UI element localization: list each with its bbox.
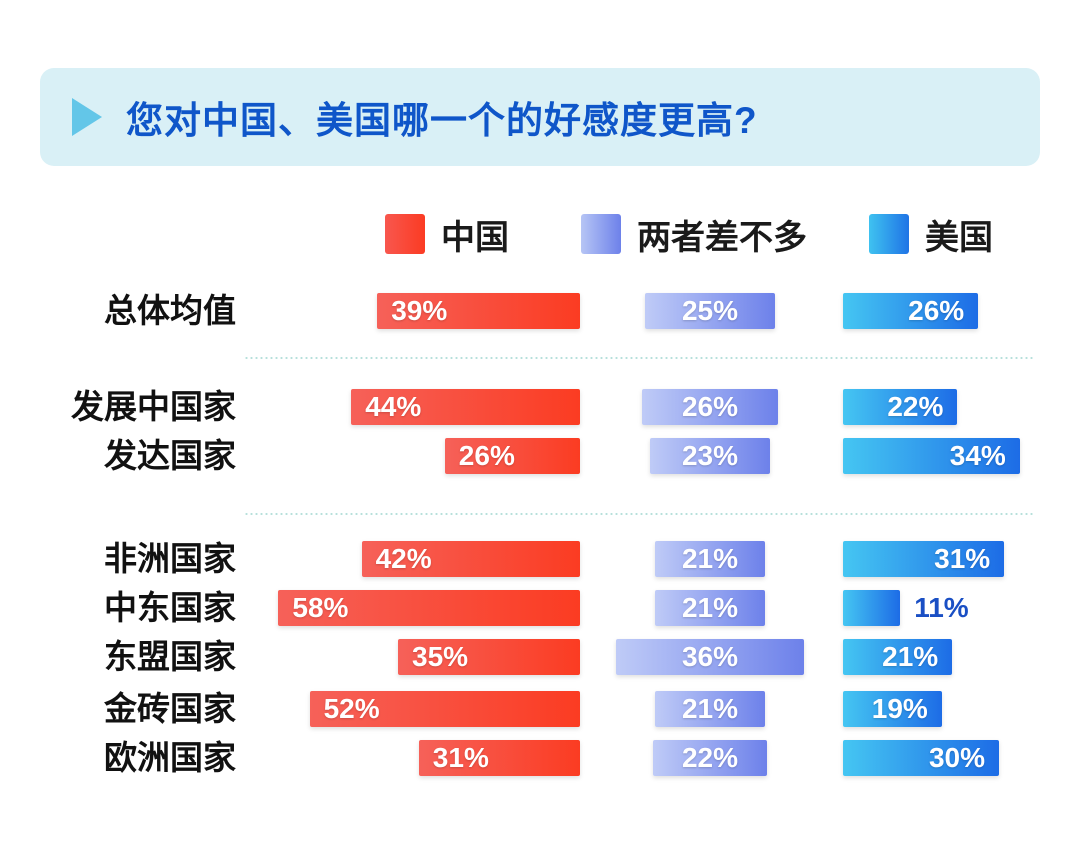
chart-row: 发展中国家44%26%22% xyxy=(0,385,1080,429)
bar-value-usa: 21% xyxy=(882,639,938,675)
bar-usa[interactable]: 21% xyxy=(843,639,952,675)
row-label-4: 中东国家 xyxy=(0,586,236,630)
bar-china[interactable]: 52% xyxy=(310,691,580,727)
bar-value-usa: 30% xyxy=(929,740,985,776)
bar-usa[interactable]: 19% xyxy=(843,691,942,727)
bar-value-about-same: 21% xyxy=(655,590,764,626)
bar-value-about-same: 22% xyxy=(653,740,767,776)
chart-row: 中东国家58%21%11% xyxy=(0,586,1080,630)
row-label-1: 发展中国家 xyxy=(0,385,236,429)
row-label-0: 总体均值 xyxy=(0,289,236,333)
bar-value-china: 39% xyxy=(391,293,447,329)
bar-value-about-same: 26% xyxy=(642,389,777,425)
bar-china[interactable]: 42% xyxy=(362,541,580,577)
bar-about-same[interactable]: 21% xyxy=(655,541,764,577)
bar-usa[interactable]: 34% xyxy=(843,438,1020,474)
bar-value-china: 52% xyxy=(324,691,380,727)
bar-value-china: 58% xyxy=(292,590,348,626)
chart-row: 总体均值39%25%26% xyxy=(0,289,1080,333)
row-label-6: 金砖国家 xyxy=(0,687,236,731)
bar-about-same[interactable]: 25% xyxy=(645,293,775,329)
row-label-2: 发达国家 xyxy=(0,434,236,478)
bar-china[interactable]: 26% xyxy=(445,438,580,474)
chart-row: 欧洲国家31%22%30% xyxy=(0,736,1080,780)
bar-value-china: 42% xyxy=(376,541,432,577)
bar-value-usa: 11% xyxy=(914,590,969,626)
bar-value-china: 26% xyxy=(459,438,515,474)
bar-about-same[interactable]: 21% xyxy=(655,590,764,626)
bar-value-china: 31% xyxy=(433,740,489,776)
bar-value-about-same: 25% xyxy=(645,293,775,329)
chart-row: 发达国家26%23%34% xyxy=(0,434,1080,478)
bar-value-about-same: 23% xyxy=(650,438,770,474)
bar-value-usa: 19% xyxy=(872,691,928,727)
bar-about-same[interactable]: 23% xyxy=(650,438,770,474)
bar-about-same[interactable]: 26% xyxy=(642,389,777,425)
bar-china[interactable]: 35% xyxy=(398,639,580,675)
bar-value-usa: 22% xyxy=(887,389,943,425)
bar-china[interactable]: 58% xyxy=(278,590,580,626)
bar-chart: 总体均值39%25%26%发展中国家44%26%22%发达国家26%23%34%… xyxy=(0,0,1080,846)
bar-usa[interactable]: 26% xyxy=(843,293,978,329)
bar-usa[interactable]: 31% xyxy=(843,541,1004,577)
chart-row: 金砖国家52%21%19% xyxy=(0,687,1080,731)
bar-about-same[interactable]: 36% xyxy=(616,639,803,675)
group-divider-1 xyxy=(244,513,1034,515)
bar-china[interactable]: 44% xyxy=(351,389,580,425)
row-label-7: 欧洲国家 xyxy=(0,736,236,780)
bar-value-china: 35% xyxy=(412,639,468,675)
chart-row: 非洲国家42%21%31% xyxy=(0,537,1080,581)
bar-about-same[interactable]: 22% xyxy=(653,740,767,776)
bar-china[interactable]: 31% xyxy=(419,740,580,776)
bar-value-usa: 26% xyxy=(908,293,964,329)
bar-about-same[interactable]: 21% xyxy=(655,691,764,727)
bar-china[interactable]: 39% xyxy=(377,293,580,329)
bar-value-about-same: 36% xyxy=(616,639,803,675)
group-divider-0 xyxy=(244,357,1034,359)
bar-value-usa: 31% xyxy=(934,541,990,577)
chart-row: 东盟国家35%36%21% xyxy=(0,635,1080,679)
bar-value-about-same: 21% xyxy=(655,691,764,727)
bar-value-usa: 34% xyxy=(950,438,1006,474)
row-label-3: 非洲国家 xyxy=(0,537,236,581)
bar-usa[interactable] xyxy=(843,590,900,626)
row-label-5: 东盟国家 xyxy=(0,635,236,679)
bar-value-about-same: 21% xyxy=(655,541,764,577)
bar-value-china: 44% xyxy=(365,389,421,425)
bar-usa[interactable]: 30% xyxy=(843,740,999,776)
bar-usa[interactable]: 22% xyxy=(843,389,957,425)
